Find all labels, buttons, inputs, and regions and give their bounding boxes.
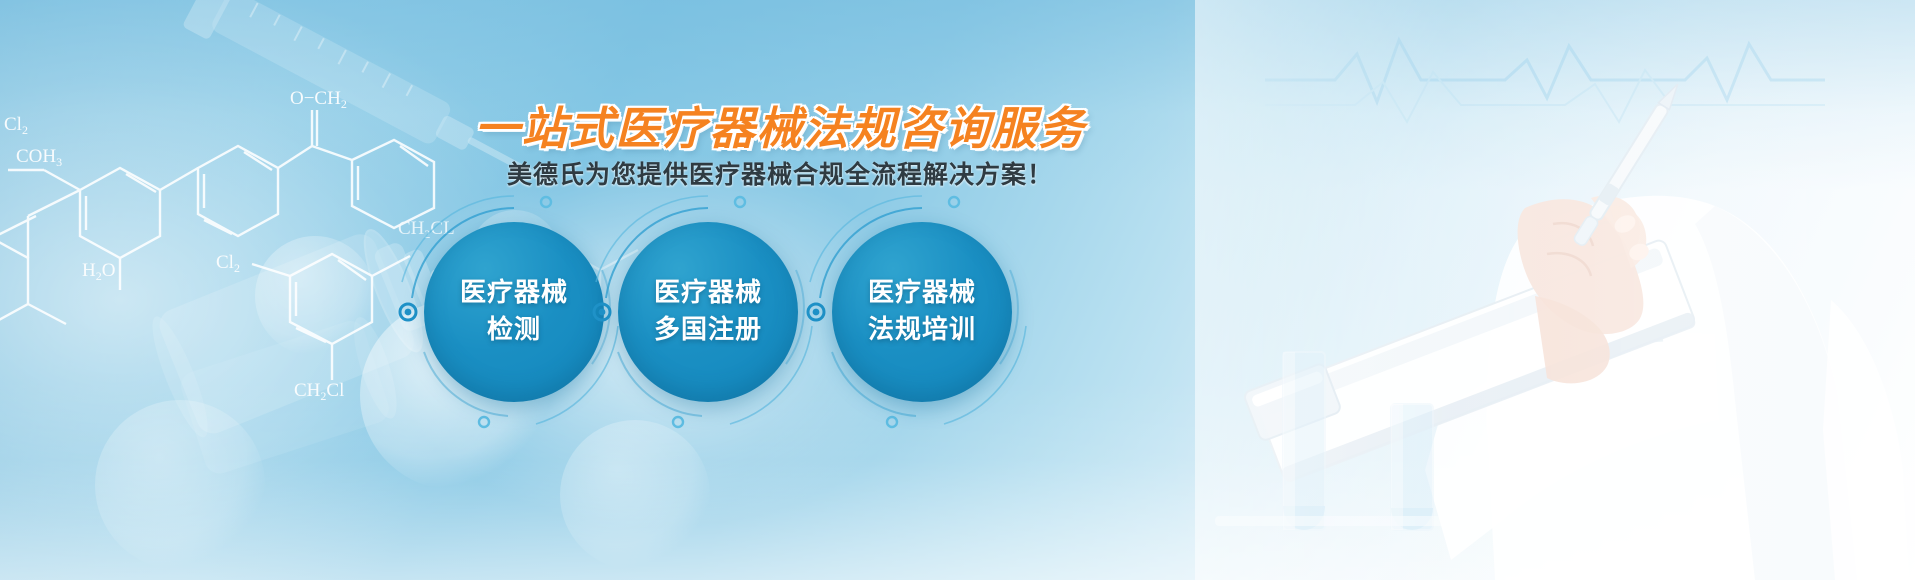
badge-label-line2: 多国注册: [654, 312, 762, 349]
hero-banner: Cl2 COH3 O−CH2 H2O Cl2 Cl C Cl CH2Cl CH2…: [0, 0, 1915, 580]
badge-label-line1: 医疗器械: [868, 275, 976, 312]
service-badge-circle[interactable]: 医疗器械 检测: [424, 222, 604, 402]
badge-label-line1: 医疗器械: [460, 275, 568, 312]
service-badge-circle[interactable]: 医疗器械 多国注册: [618, 222, 798, 402]
service-badge-circle[interactable]: 医疗器械 法规培训: [832, 222, 1012, 402]
service-badge-testing[interactable]: 医疗器械 检测: [424, 222, 604, 402]
page-subtitle: 美德氏为您提供医疗器械合规全流程解决方案！: [0, 155, 1560, 191]
badge-label-line1: 医疗器械: [654, 275, 762, 312]
service-badge-registration[interactable]: 医疗器械 多国注册: [618, 222, 798, 402]
service-badge-training[interactable]: 医疗器械 法规培训: [832, 222, 1012, 402]
service-badge-group: 医疗器械 检测 医疗器械: [0, 222, 1560, 402]
page-title: 一站式医疗器械法规咨询服务: [0, 92, 1560, 157]
badge-label-line2: 检测: [487, 312, 541, 349]
badge-label-line2: 法规培训: [868, 312, 976, 349]
